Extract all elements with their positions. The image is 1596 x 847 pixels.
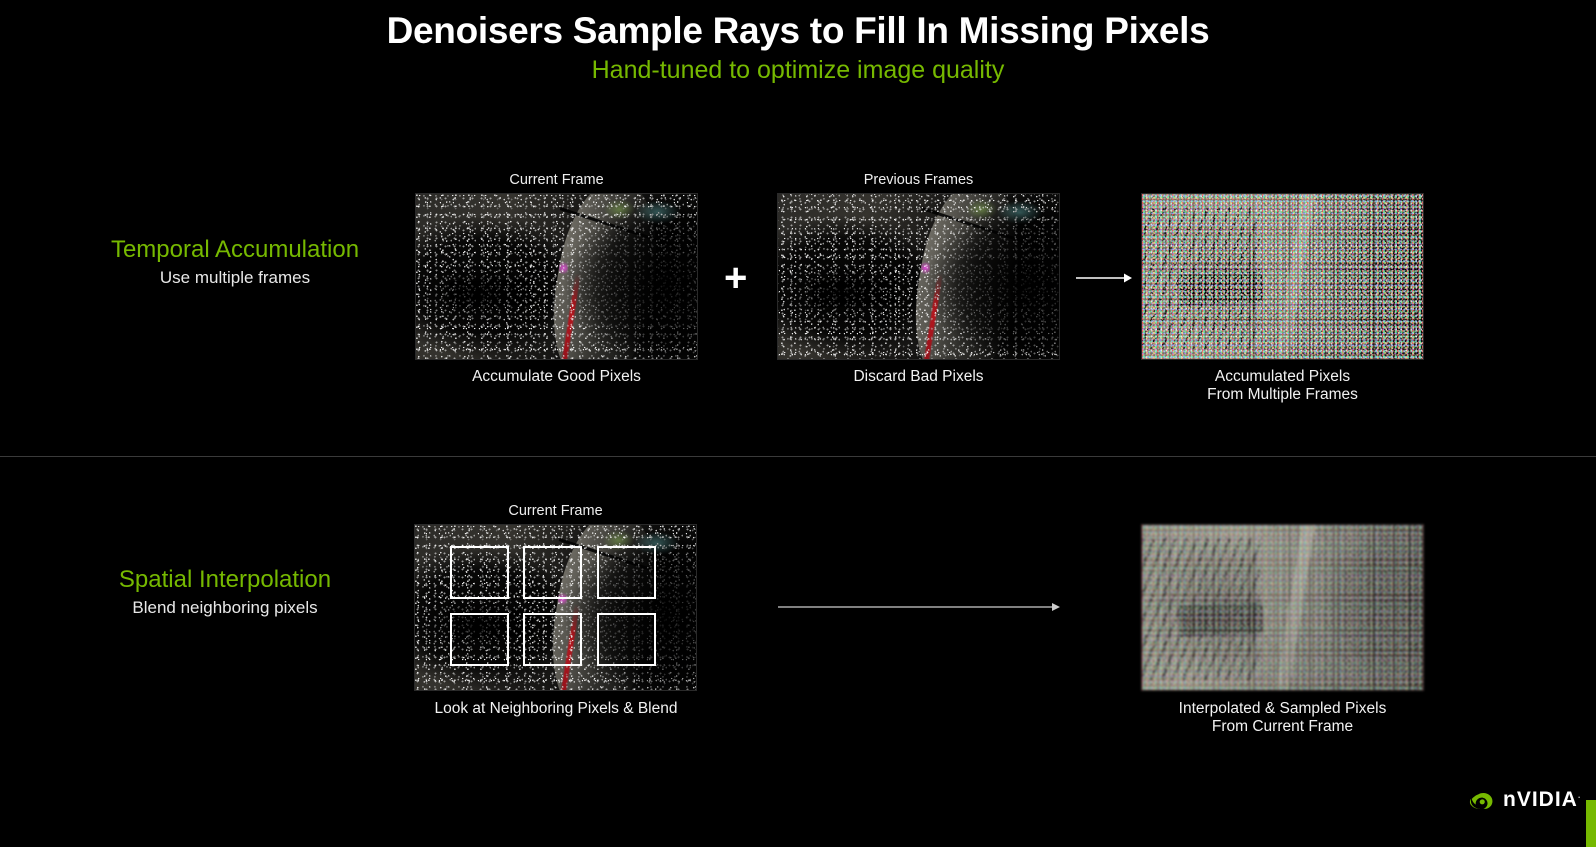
image-accumulated-result [1141, 193, 1424, 360]
sample-box-5 [523, 613, 582, 666]
row-label-temporal-title: Temporal Accumulation [70, 236, 400, 264]
caption-accumulated-pixels-line1: Accumulated Pixels [1141, 368, 1424, 386]
caption-accumulated-pixels-line2: From Multiple Frames [1141, 386, 1424, 404]
section-divider [0, 456, 1596, 457]
image-previous-frames [777, 193, 1060, 360]
row-label-spatial-sub: Blend neighboring pixels [70, 598, 380, 618]
sample-box-2 [523, 546, 582, 599]
long-right-arrow-icon [778, 597, 1060, 617]
caption-interpolated-pixels-line2: From Current Frame [1120, 718, 1445, 736]
row-label-temporal-sub: Use multiple frames [70, 268, 400, 288]
sample-box-4 [450, 613, 509, 666]
row-label-spatial-title: Spatial Interpolation [70, 566, 380, 594]
caption-interpolated-pixels-line1: Interpolated & Sampled Pixels [1120, 700, 1445, 718]
caption-interpolated-pixels: Interpolated & Sampled Pixels From Curre… [1120, 700, 1445, 736]
caption-previous-frames-top: Previous Frames [777, 172, 1060, 189]
caption-current-frame-spatial-top: Current Frame [414, 503, 697, 520]
nvidia-wordmark: nVIDIA. [1503, 788, 1581, 812]
image-current-frame [415, 193, 698, 360]
caption-look-at-neighboring-pixels: Look at Neighboring Pixels & Blend [400, 700, 712, 718]
row-label-temporal: Temporal Accumulation Use multiple frame… [70, 236, 400, 288]
green-accent-bar [1586, 800, 1596, 847]
sample-box-6 [597, 613, 656, 666]
caption-current-frame-top: Current Frame [415, 172, 698, 189]
page-title: Denoisers Sample Rays to Fill In Missing… [0, 10, 1596, 52]
right-arrow-icon [1076, 268, 1132, 288]
sample-box-3 [597, 546, 656, 599]
page-subtitle: Hand-tuned to optimize image quality [0, 56, 1596, 85]
sample-box-1 [450, 546, 509, 599]
row-label-spatial: Spatial Interpolation Blend neighboring … [70, 566, 380, 618]
image-interpolated-result [1141, 524, 1424, 691]
plus-operator-icon: + [724, 258, 747, 298]
slide-root: Denoisers Sample Rays to Fill In Missing… [0, 0, 1596, 847]
nvidia-logo: nVIDIA. [1469, 788, 1581, 812]
nvidia-trademark: . [1578, 790, 1582, 800]
caption-accumulated-pixels: Accumulated Pixels From Multiple Frames [1141, 368, 1424, 404]
nvidia-eye-icon [1469, 791, 1495, 809]
caption-discard-bad-pixels: Discard Bad Pixels [777, 368, 1060, 386]
caption-accumulate-good-pixels: Accumulate Good Pixels [415, 368, 698, 386]
